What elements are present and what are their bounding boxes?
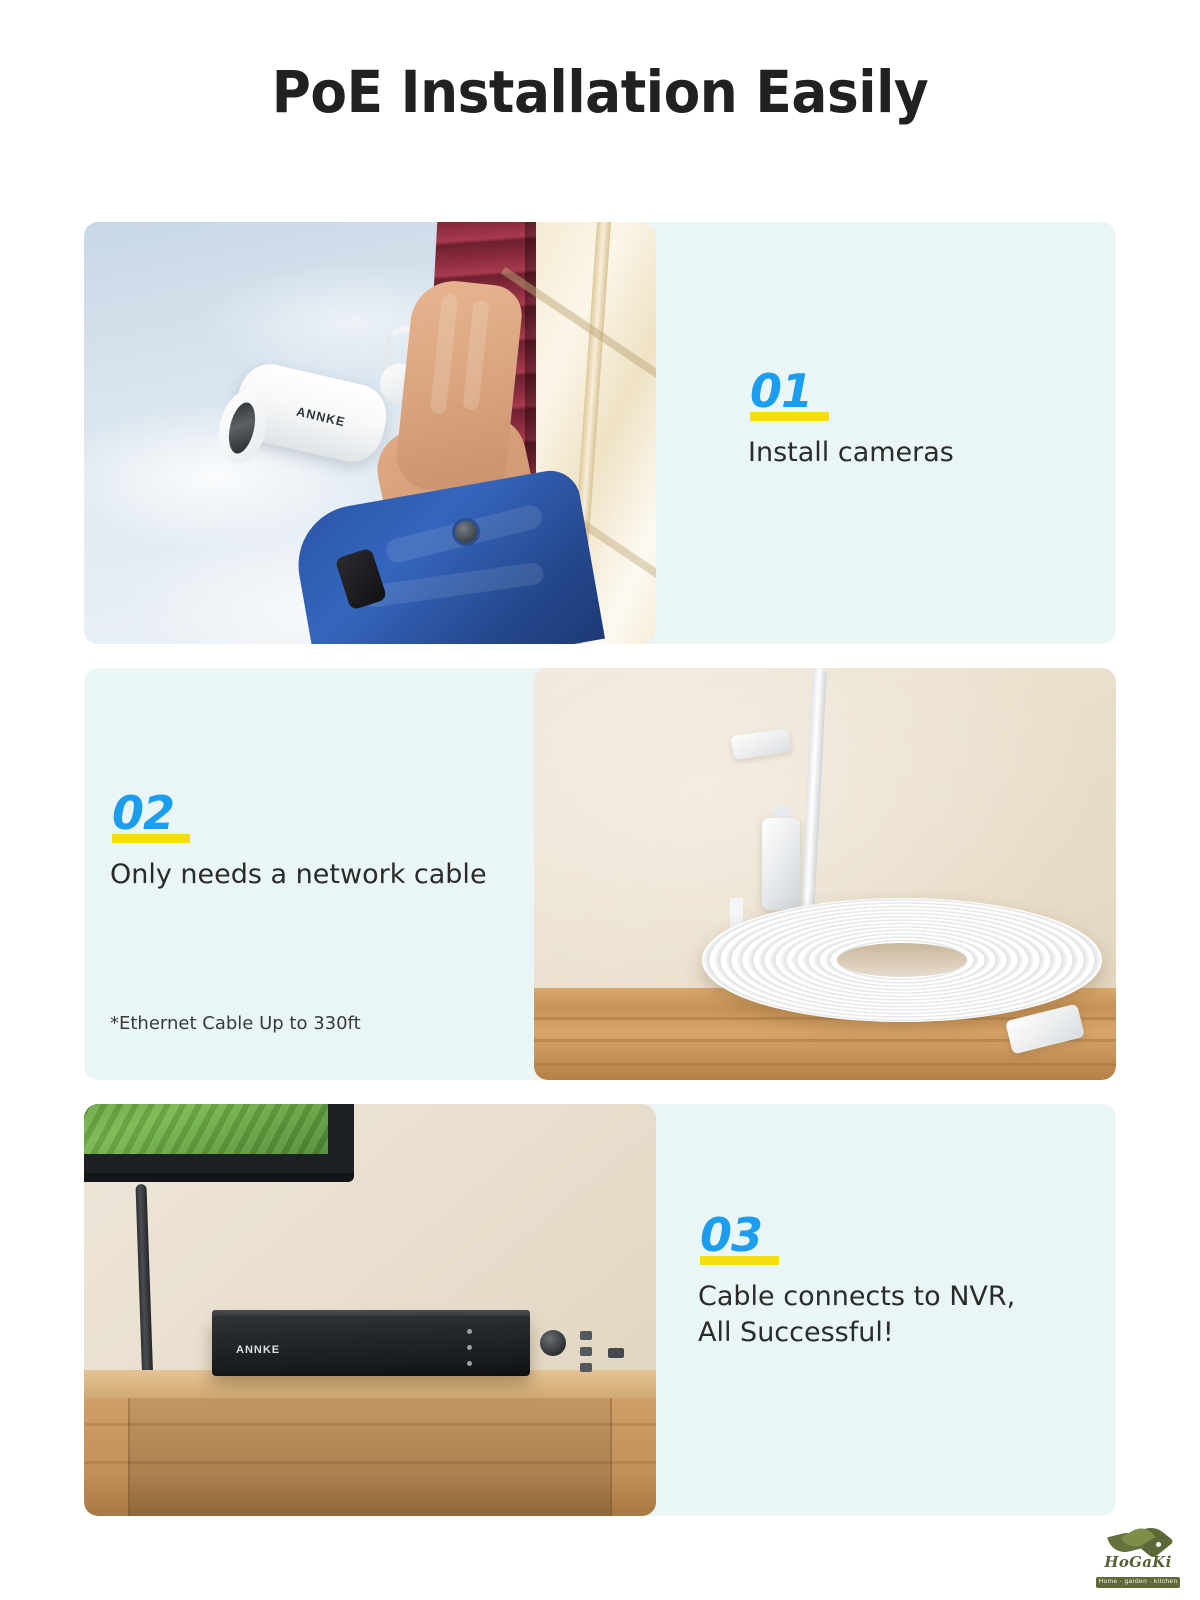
nvr-button bbox=[580, 1331, 592, 1340]
step-02-photo bbox=[534, 668, 1116, 1080]
step-01-photo: ANNKE bbox=[84, 222, 656, 644]
nvr-brand-label: ANNKE bbox=[236, 1344, 280, 1356]
step-description-01: Install cameras bbox=[748, 435, 954, 471]
step-03-photo: ANNKE bbox=[84, 1104, 656, 1516]
house-leaf-icon bbox=[1105, 1520, 1171, 1554]
nvr-status-led bbox=[467, 1361, 472, 1366]
wall-mounted-tv bbox=[84, 1104, 354, 1182]
nvr-button bbox=[580, 1347, 592, 1356]
step-description-03: Cable connects to NVR, All Successful! bbox=[698, 1279, 1015, 1350]
step-02-text: 02 Only needs a network cable bbox=[110, 790, 487, 893]
watermark-tagline: Home · garden · kitchen bbox=[1096, 1577, 1181, 1588]
nvr-usb-port bbox=[608, 1348, 624, 1358]
ethernet-coupler bbox=[762, 818, 800, 910]
coiled-ethernet-cable bbox=[702, 898, 1102, 1022]
nvr-button bbox=[580, 1363, 592, 1372]
step-01-text: 01 Install cameras bbox=[748, 368, 954, 471]
sleeve-button bbox=[452, 518, 480, 546]
step-03-text: 03 Cable connects to NVR, All Successful… bbox=[698, 1212, 1015, 1350]
step-description-02: Only needs a network cable bbox=[110, 857, 487, 893]
step-02-footnote: *Ethernet Cable Up to 330ft bbox=[110, 1013, 361, 1034]
house-window bbox=[1156, 1542, 1161, 1547]
watermark-logo: HoGaKi Home · garden · kitchen bbox=[1090, 1520, 1186, 1588]
nvr-status-led bbox=[467, 1329, 472, 1334]
installer-hand bbox=[393, 277, 524, 497]
wood-grain bbox=[534, 1063, 1116, 1066]
step-card-01: ANNKE bbox=[84, 222, 1116, 644]
coil-center bbox=[837, 943, 967, 977]
watermark-name: HoGaKi bbox=[1090, 1555, 1186, 1570]
step-number-01: 01 bbox=[748, 368, 816, 418]
page-title: PoE Installation Easily bbox=[48, 58, 1152, 126]
step-number-03: 03 bbox=[698, 1212, 766, 1262]
tv-screen bbox=[84, 1104, 328, 1154]
infographic-page: PoE Installation Easily ANNKE bbox=[0, 0, 1200, 1600]
nvr-status-led bbox=[467, 1345, 472, 1350]
nvr-jog-dial bbox=[540, 1330, 566, 1356]
cabinet-drawer-face bbox=[128, 1398, 612, 1516]
step-number-02: 02 bbox=[110, 790, 178, 840]
